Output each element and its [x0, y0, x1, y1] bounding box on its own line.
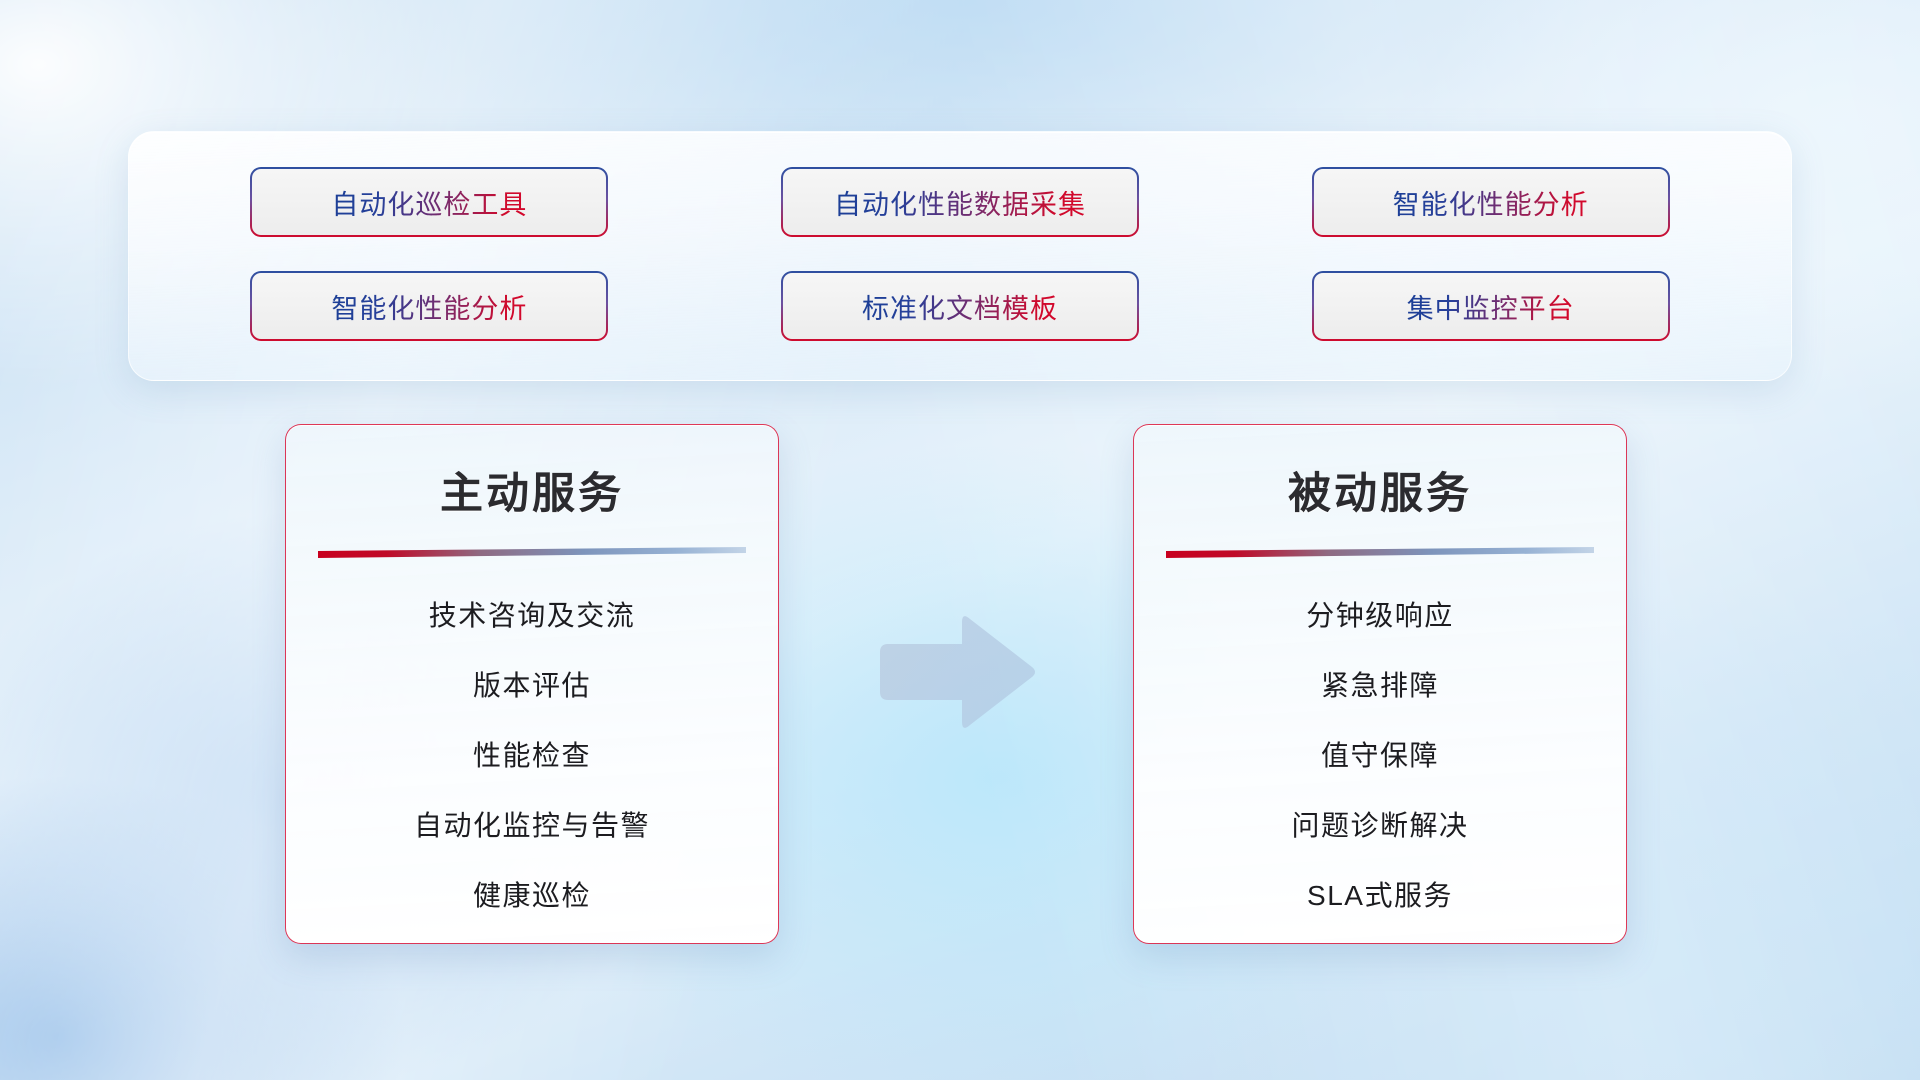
capability-tag-surface: 自动化巡检工具	[252, 169, 606, 235]
capability-tag[interactable]: 标准化文档模板	[781, 271, 1139, 341]
active-service-list: 技术咨询及交流 版本评估 性能检查 自动化监控与告警 健康巡检	[286, 581, 778, 931]
capability-tag[interactable]: 集中监控平台	[1312, 271, 1670, 341]
active-service-card: 主动服务 技术咨询及交流 版本评估 性能检查 自动化监控与告警 健康巡检	[285, 424, 779, 944]
capability-tag-label: 智能化性能分析	[331, 287, 527, 326]
capability-tag[interactable]: 智能化性能分析	[1312, 167, 1670, 237]
list-item: 健康巡检	[473, 861, 591, 931]
passive-service-list: 分钟级响应 紧急排障 值守保障 问题诊断解决 SLA式服务	[1134, 581, 1626, 931]
list-item: 性能检查	[473, 721, 591, 791]
list-item: 分钟级响应	[1306, 581, 1454, 651]
list-item: 紧急排障	[1321, 651, 1439, 721]
capability-tag[interactable]: 自动化巡检工具	[250, 167, 608, 237]
capability-tag-surface: 自动化性能数据采集	[783, 169, 1137, 235]
active-service-divider	[318, 547, 746, 559]
list-item: SLA式服务	[1307, 861, 1453, 931]
list-item: 自动化监控与告警	[414, 791, 650, 861]
arrow-right-icon	[872, 612, 1036, 732]
capability-tag[interactable]: 自动化性能数据采集	[781, 167, 1139, 237]
list-item: 值守保障	[1321, 721, 1439, 791]
passive-service-card: 被动服务 分钟级响应 紧急排障 值守保障 问题诊断解决 SLA式服务	[1133, 424, 1627, 944]
capability-tag-label: 自动化性能数据采集	[834, 183, 1086, 222]
capability-tag-surface: 集中监控平台	[1314, 273, 1668, 339]
list-item: 问题诊断解决	[1291, 791, 1468, 861]
active-service-title: 主动服务	[286, 459, 778, 521]
capability-tag-label: 标准化文档模板	[862, 287, 1058, 326]
list-item: 技术咨询及交流	[429, 581, 636, 651]
capability-tags-panel: 自动化巡检工具 自动化性能数据采集 智能化性能分析 智能化性能分析 标准化文档模…	[128, 131, 1792, 381]
capability-tag[interactable]: 智能化性能分析	[250, 271, 608, 341]
capability-tag-surface: 标准化文档模板	[783, 273, 1137, 339]
passive-service-divider	[1166, 547, 1594, 559]
passive-service-title: 被动服务	[1134, 459, 1626, 521]
capability-tag-surface: 智能化性能分析	[1314, 169, 1668, 235]
capability-tag-label: 集中监控平台	[1407, 287, 1575, 326]
capability-tag-label: 智能化性能分析	[1393, 183, 1589, 222]
list-item: 版本评估	[473, 651, 591, 721]
capability-tag-label: 自动化巡检工具	[331, 183, 527, 222]
capability-tag-surface: 智能化性能分析	[252, 273, 606, 339]
